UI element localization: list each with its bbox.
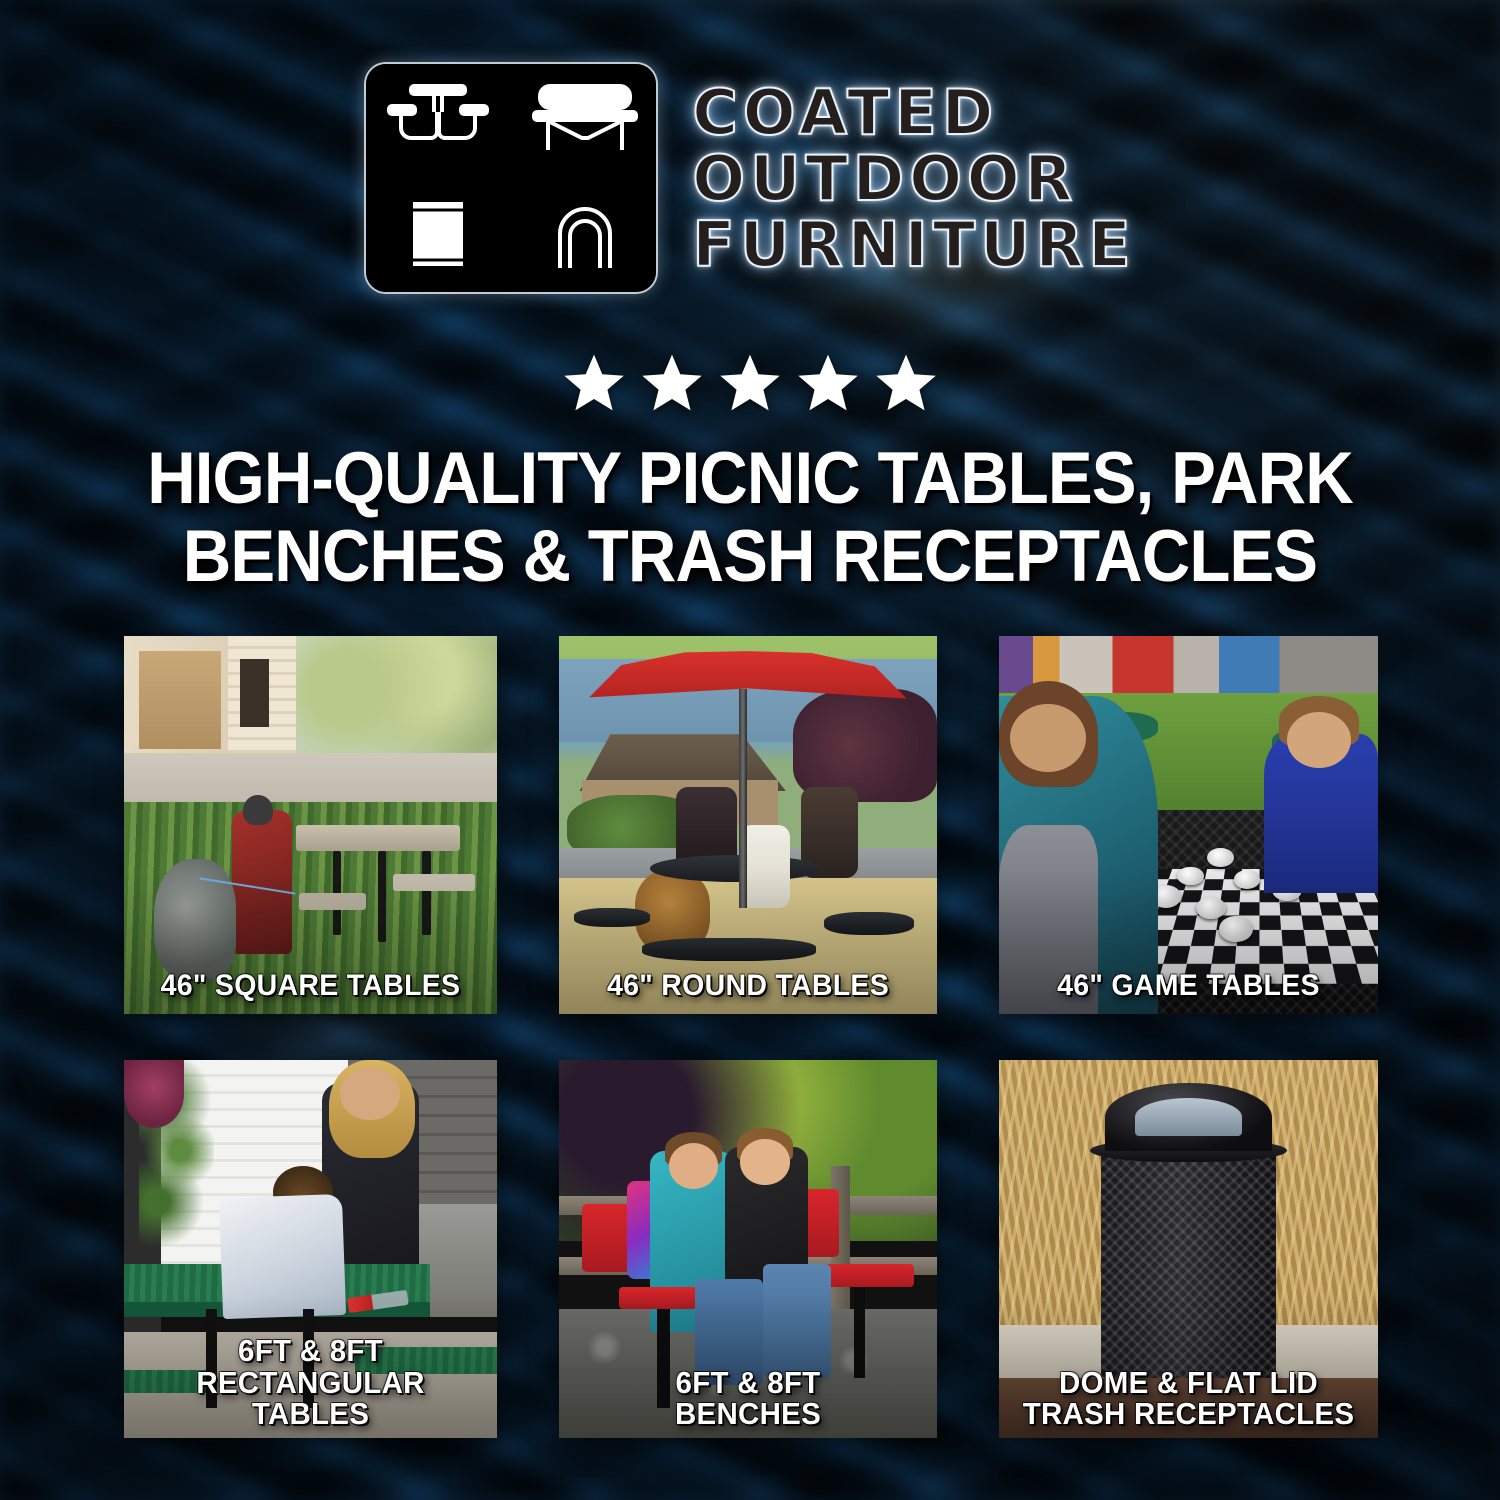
product-caption-square-tables: 46" SQUARE TABLES [139,971,482,1002]
caption-line-1: DOME & FLAT LID [1014,1367,1363,1399]
picnic-table-icon [366,64,510,177]
star-icon [719,352,781,414]
caption-line-2: RECTANGULAR TABLES [139,1367,482,1430]
product-tile-trash-receptacles[interactable]: DOME & FLAT LID TRASH RECEPTACLES [999,1060,1378,1438]
product-caption-round-tables: 46" ROUND TABLES [574,971,922,1002]
product-photo-square-tables [124,636,497,1014]
product-photo-round-tables [559,636,937,1014]
star-icon [563,352,625,414]
brand-line-2: OUTDOOR [692,147,1135,211]
arch-bike-rack-icon [513,180,657,293]
headline-line-2: BENCHES & TRASH RECEPTACLES [115,518,1385,596]
caption-line-1: 6FT & 8FT [139,1335,482,1367]
product-tile-rectangular-tables[interactable]: 6FT & 8FT RECTANGULAR TABLES [124,1060,497,1438]
caption-line-1: 6FT & 8FT [574,1367,922,1399]
brand-logo-mark [364,62,658,294]
star-icon [875,352,937,414]
bench-icon [513,64,657,177]
product-tile-game-tables[interactable]: 46" GAME TABLES [999,636,1378,1014]
product-photo-game-tables [999,636,1378,1014]
star-icon [797,352,859,414]
product-caption-benches: 6FT & 8FT BENCHES [574,1367,922,1430]
star-rating [0,352,1500,414]
caption-line-2: BENCHES [574,1398,922,1430]
brand-line-3: FURNITURE [692,213,1135,277]
product-grid: 46" SQUARE TABLES [124,636,1378,1438]
brand-name: COATED OUTDOOR FURNITURE [692,79,1135,277]
caption-line-1: 46" GAME TABLES [1014,971,1363,1002]
product-caption-game-tables: 46" GAME TABLES [1014,971,1363,1002]
product-caption-trash-receptacles: DOME & FLAT LID TRASH RECEPTACLES [1014,1367,1363,1430]
product-tile-square-tables[interactable]: 46" SQUARE TABLES [124,636,497,1014]
caption-line-2: TRASH RECEPTACLES [1014,1398,1363,1430]
promo-banner: COATED OUTDOOR FURNITURE HIGH-QUALITY PI… [0,0,1500,1500]
product-caption-rectangular-tables: 6FT & 8FT RECTANGULAR TABLES [139,1335,482,1430]
brand-header: COATED OUTDOOR FURNITURE [0,62,1500,294]
product-tile-benches[interactable]: 6FT & 8FT BENCHES [559,1060,937,1438]
caption-line-1: 46" SQUARE TABLES [139,971,482,1002]
trash-receptacle-icon [366,180,510,293]
brand-line-1: COATED [692,81,1135,145]
star-icon [641,352,703,414]
caption-line-1: 46" ROUND TABLES [574,971,922,1002]
headline-line-1: HIGH-QUALITY PICNIC TABLES, PARK [147,438,1353,519]
product-tile-round-tables[interactable]: 46" ROUND TABLES [559,636,937,1014]
headline: HIGH-QUALITY PICNIC TABLES, PARK BENCHES… [115,440,1385,596]
